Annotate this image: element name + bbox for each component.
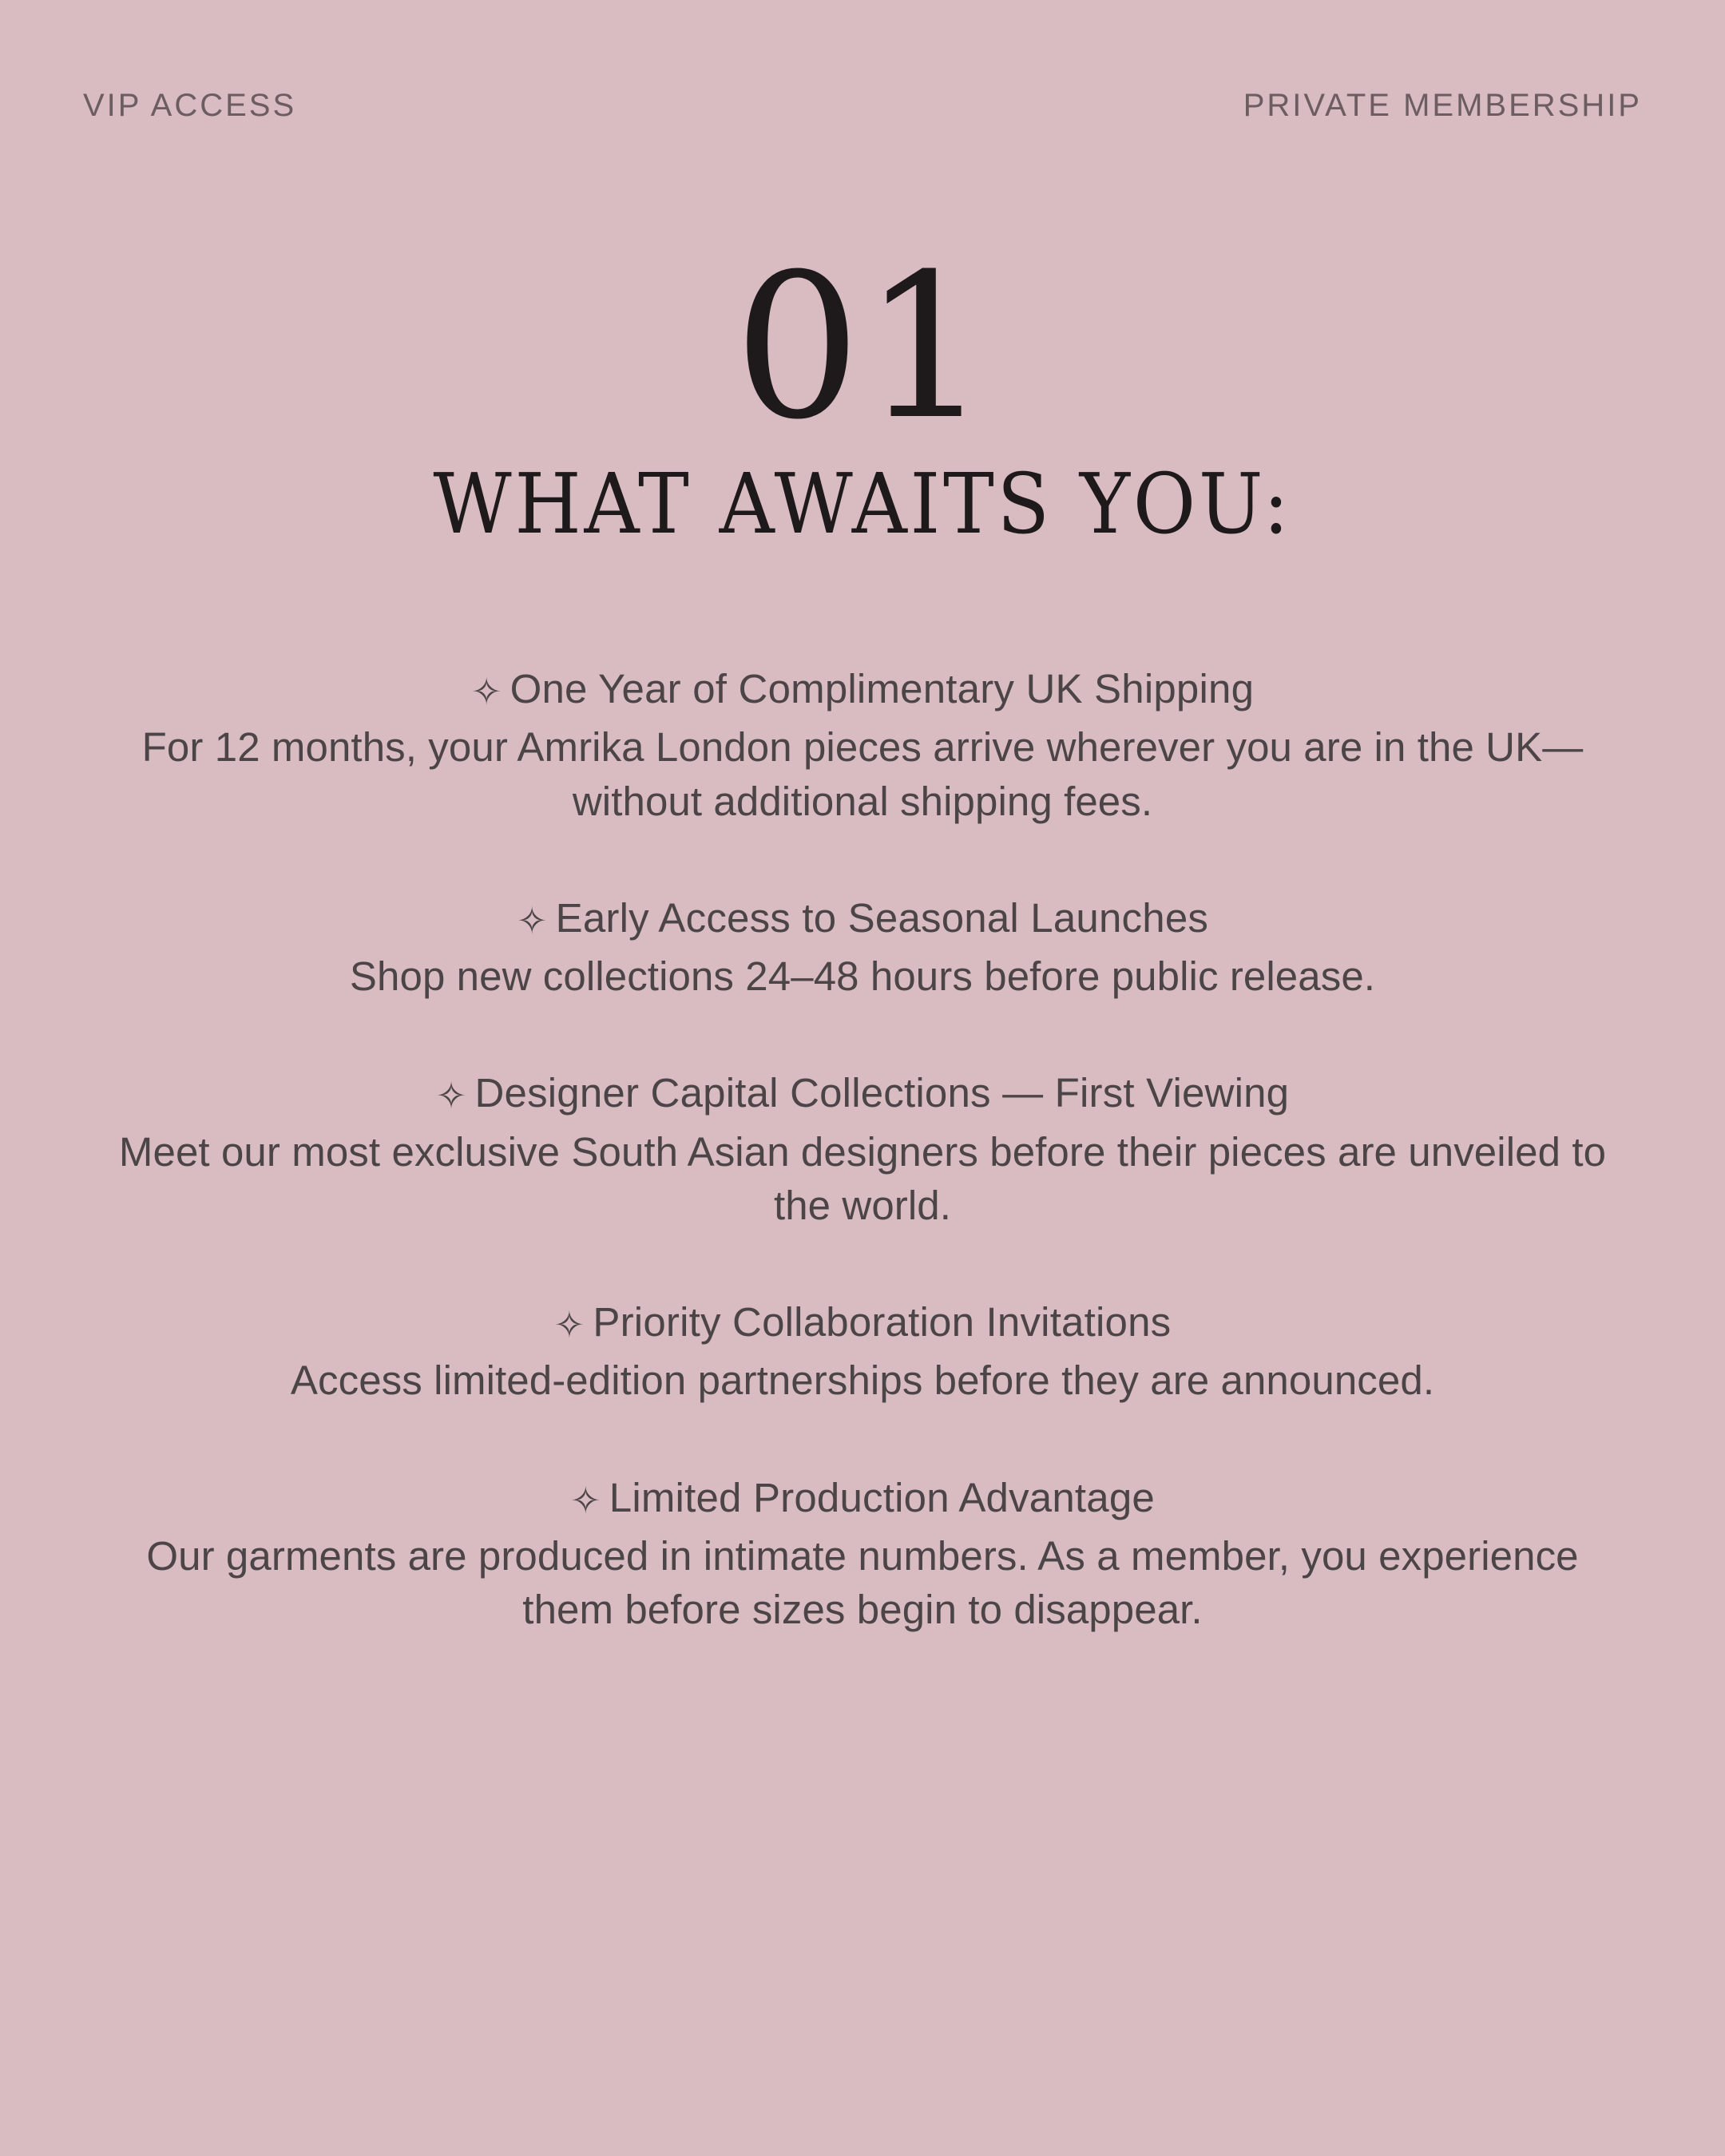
benefit-title-text: Early Access to Seasonal Launches: [556, 895, 1208, 941]
list-item: ✧Designer Capital Collections — First Vi…: [104, 1068, 1621, 1232]
benefits-list: ✧One Year of Complimentary UK Shipping F…: [104, 664, 1621, 1637]
benefit-title-text: Priority Collaboration Invitations: [593, 1299, 1171, 1345]
vip-access-label: VIP ACCESS: [83, 89, 296, 121]
benefit-title: ✧Limited Production Advantage: [104, 1473, 1621, 1523]
benefit-title: ✧Designer Capital Collections — First Vi…: [104, 1068, 1621, 1118]
page-title: WHAT AWAITS YOU:: [69, 459, 1656, 549]
list-item: ✧Early Access to Seasonal Launches Shop …: [104, 894, 1621, 1004]
list-item: ✧Priority Collaboration Invitations Acce…: [104, 1298, 1621, 1408]
list-item: ✧Limited Production Advantage Our garmen…: [104, 1473, 1621, 1637]
benefit-title-text: Designer Capital Collections — First Vie…: [474, 1070, 1289, 1116]
benefit-title: ✧Priority Collaboration Invitations: [104, 1298, 1621, 1347]
benefit-description: Access limited-edition partnerships befo…: [104, 1353, 1621, 1407]
private-membership-label: PRIVATE MEMBERSHIP: [1243, 89, 1642, 121]
page-header: VIP ACCESS PRIVATE MEMBERSHIP: [83, 89, 1642, 121]
benefit-description: Our garments are produced in intimate nu…: [104, 1529, 1621, 1637]
benefit-description: For 12 months, your Amrika London pieces…: [104, 720, 1621, 828]
sparkle-icon: ✧: [517, 902, 548, 939]
sparkle-icon: ✧: [554, 1306, 585, 1343]
benefit-description: Shop new collections 24–48 hours before …: [104, 949, 1621, 1003]
benefit-title-text: Limited Production Advantage: [609, 1475, 1155, 1520]
benefit-title: ✧Early Access to Seasonal Launches: [104, 894, 1621, 943]
benefit-description: Meet our most exclusive South Asian desi…: [104, 1125, 1621, 1233]
benefit-title-text: One Year of Complimentary UK Shipping: [510, 666, 1255, 711]
sparkle-icon: ✧: [570, 1482, 601, 1519]
sparkle-icon: ✧: [471, 673, 502, 710]
membership-benefits-page: VIP ACCESS PRIVATE MEMBERSHIP 01 WHAT AW…: [0, 0, 1725, 2156]
sparkle-icon: ✧: [436, 1077, 467, 1114]
list-item: ✧One Year of Complimentary UK Shipping F…: [104, 664, 1621, 828]
section-number: 01: [0, 240, 1725, 455]
benefit-title: ✧One Year of Complimentary UK Shipping: [104, 664, 1621, 714]
